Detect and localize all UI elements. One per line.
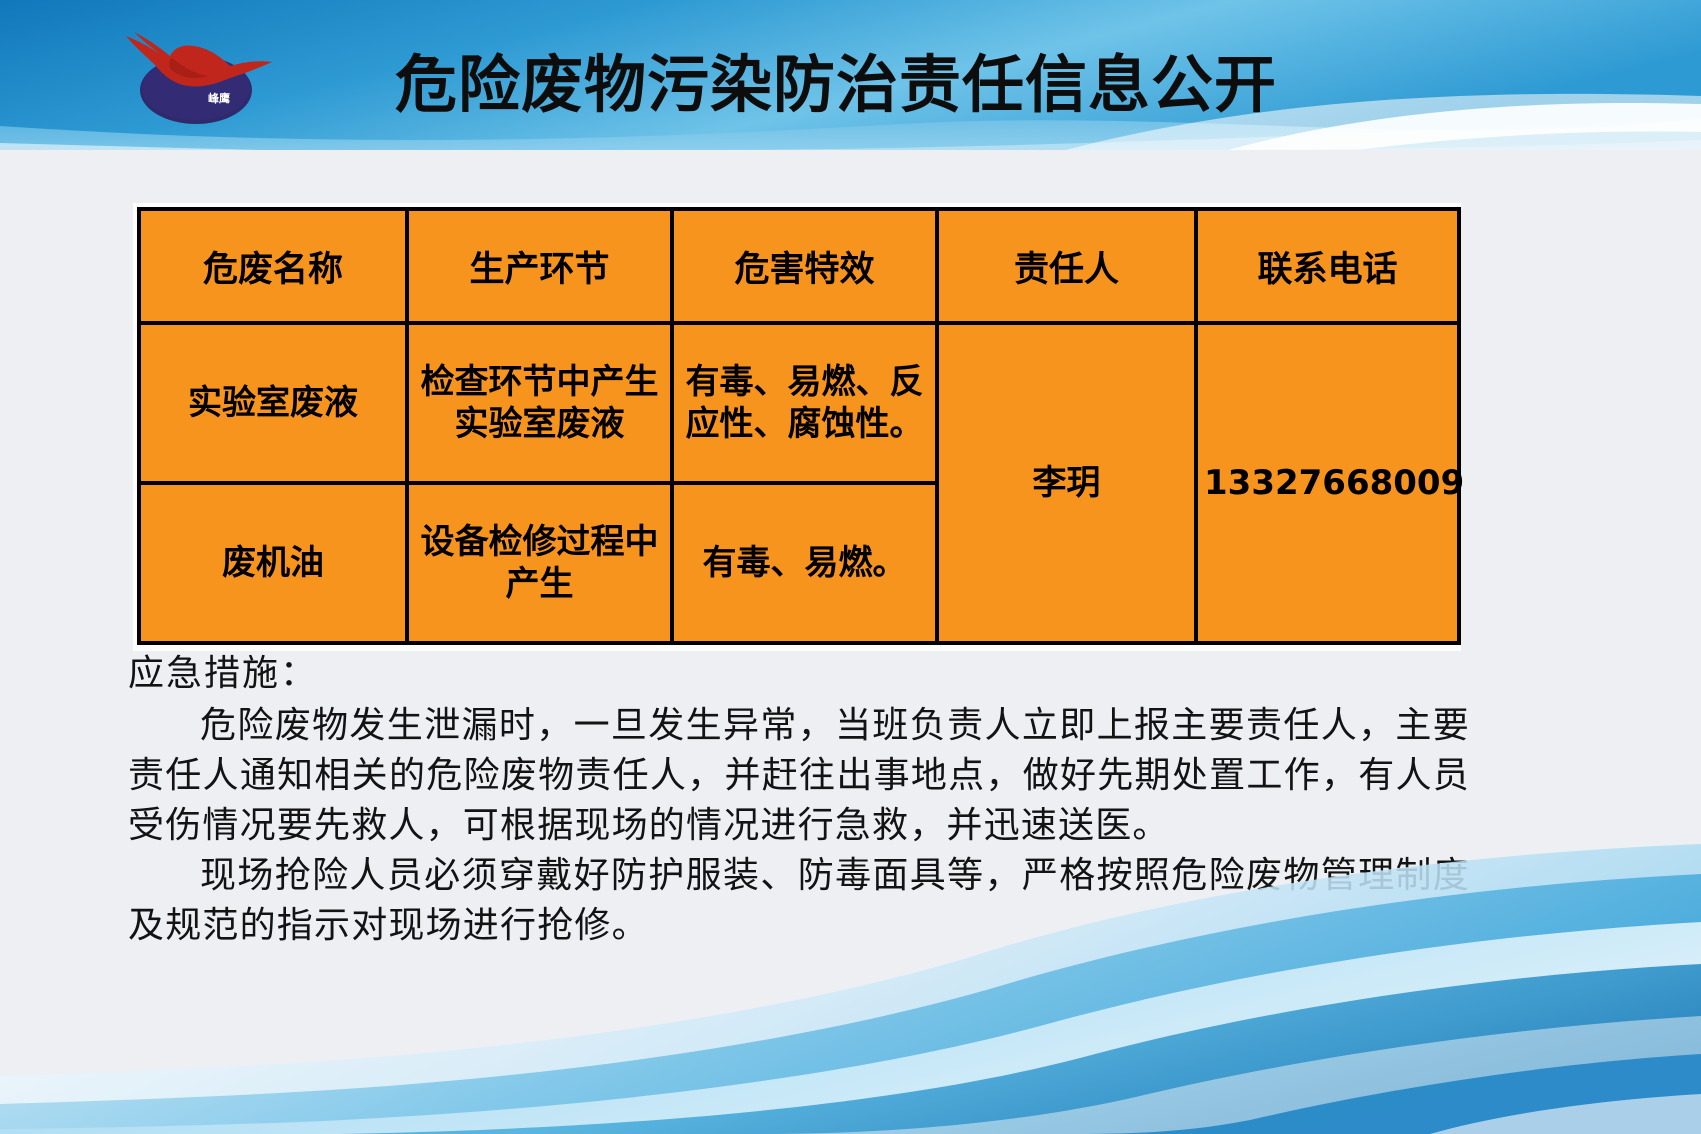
cell-waste-name-2: 废机油 — [139, 483, 407, 643]
cell-hazard-1: 有毒、易燃、反应性、腐蚀性。 — [672, 323, 937, 483]
emergency-paragraph-1: 危险废物发生泄漏时，一旦发生异常，当班负责人立即上报主要责任人，主要责任人通知相… — [128, 700, 1470, 850]
hazardous-waste-table-container: 危废名称 生产环节 危害特效 责任人 联系电话 实验室废液 检查环节中产生实验室… — [133, 203, 1461, 651]
column-header-hazard: 危害特效 — [672, 209, 937, 323]
cell-hazard-2: 有毒、易燃。 — [672, 483, 937, 643]
cell-process-1: 检查环节中产生实验室废液 — [407, 323, 672, 483]
column-header-phone: 联系电话 — [1196, 209, 1459, 323]
table-row: 实验室废液 检查环节中产生实验室废液 有毒、易燃、反应性、腐蚀性。 李玥 133… — [139, 323, 1459, 483]
eagle-logo: 峰鹰 — [112, 18, 284, 130]
cell-phone: 13327668009 — [1196, 323, 1459, 643]
cell-waste-name-1: 实验室废液 — [139, 323, 407, 483]
svg-text:峰鹰: 峰鹰 — [208, 91, 230, 105]
hazardous-waste-table: 危废名称 生产环节 危害特效 责任人 联系电话 实验室废液 检查环节中产生实验室… — [137, 207, 1461, 645]
emergency-paragraph-2: 现场抢险人员必须穿戴好防护服装、防毒面具等，严格按照危险废物管理制度及规范的指示… — [128, 850, 1470, 950]
column-header-person: 责任人 — [937, 209, 1196, 323]
table-header-row: 危废名称 生产环节 危害特效 责任人 联系电话 — [139, 209, 1459, 323]
cell-person: 李玥 — [937, 323, 1196, 643]
page-title: 危险废物污染防治责任信息公开 — [395, 54, 1295, 116]
column-header-waste-name: 危废名称 — [139, 209, 407, 323]
emergency-measures-section: 应急措施： 危险废物发生泄漏时，一旦发生异常，当班负责人立即上报主要责任人，主要… — [128, 648, 1470, 950]
slide-canvas: 峰鹰 危险废物污染防治责任信息公开 危废名称 生产环节 危害特效 责任人 联系电… — [0, 0, 1701, 1134]
emergency-measures-heading: 应急措施： — [128, 648, 1470, 698]
column-header-process: 生产环节 — [407, 209, 672, 323]
cell-process-2: 设备检修过程中产生 — [407, 483, 672, 643]
